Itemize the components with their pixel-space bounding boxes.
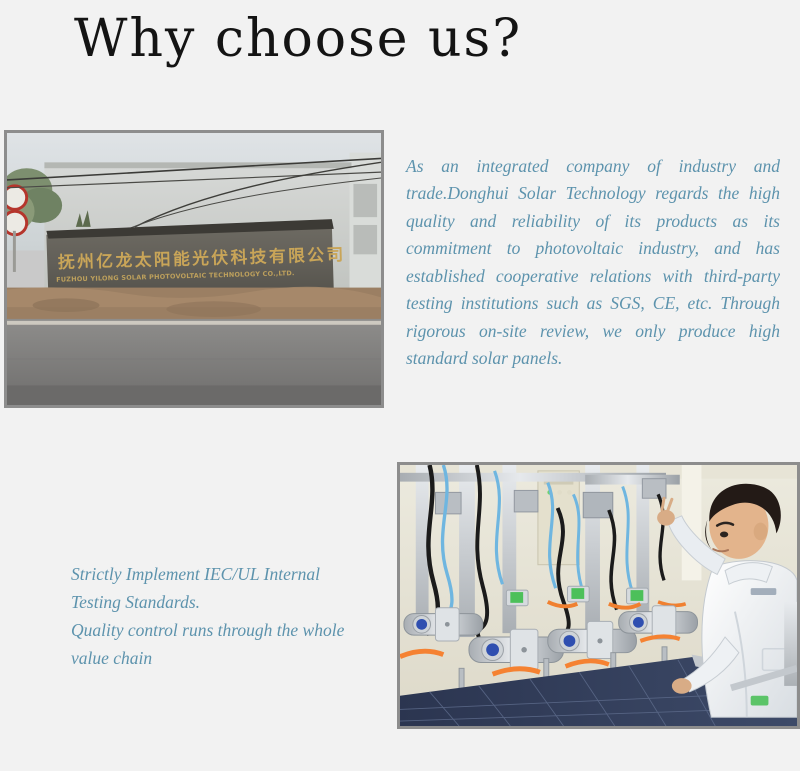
intro-paragraph: As an integrated company of industry and… — [406, 153, 780, 373]
lab-illustration — [400, 465, 797, 726]
quality-line-4: value chain — [71, 644, 391, 672]
lab-testing-photo — [397, 462, 800, 729]
factory-signboard-photo: 抚州亿龙太阳能光伏科技有限公司 FUZHOU YILONG SOLAR PHOT… — [4, 130, 384, 408]
quality-statement: Strictly Implement IEC/UL Internal Testi… — [71, 560, 391, 672]
quality-line-1: Strictly Implement IEC/UL Internal — [71, 560, 391, 588]
page-title: Why choose us? — [74, 8, 522, 70]
signboard-illustration: 抚州亿龙太阳能光伏科技有限公司 FUZHOU YILONG SOLAR PHOT… — [7, 133, 381, 405]
quality-line-3: Quality control runs through the whole — [71, 616, 391, 644]
quality-line-2: Testing Standards. — [71, 588, 391, 616]
slide-page: Why choose us? — [0, 0, 800, 771]
